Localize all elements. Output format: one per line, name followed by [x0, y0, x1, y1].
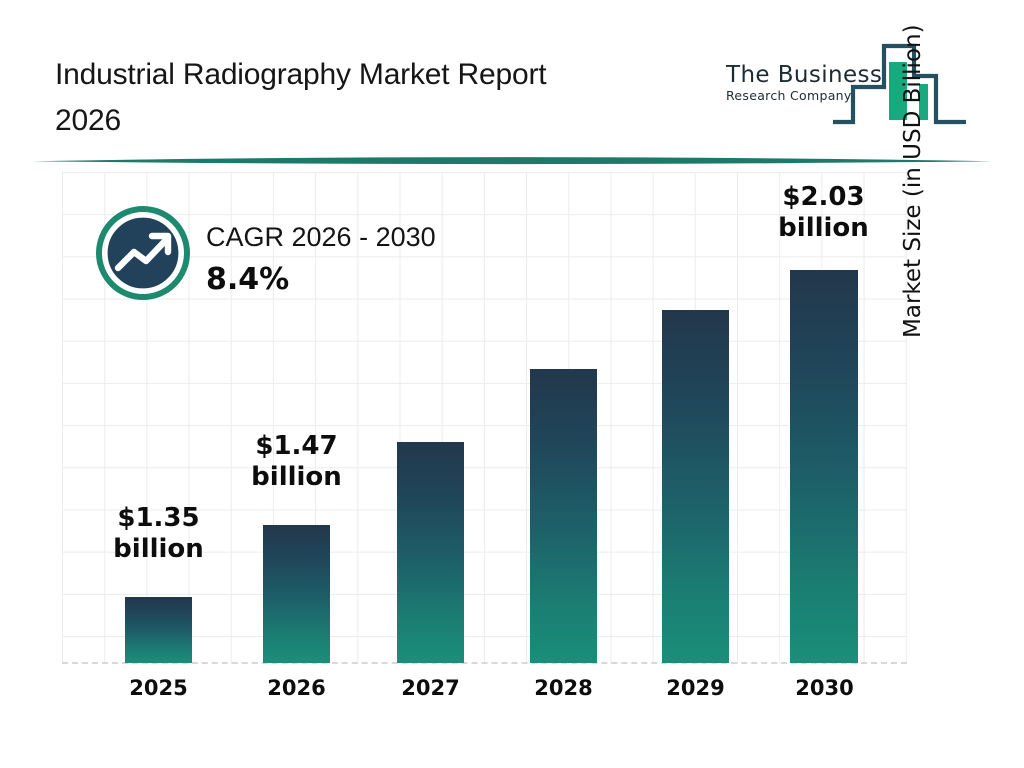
cagr-value: 8.4% [206, 262, 289, 297]
bar-value-label-2030: $2.03 billion [761, 182, 886, 244]
bar-value-label-2026: $1.47 billion [234, 431, 359, 493]
x-axis-tick-2029: 2029 [633, 676, 758, 700]
x-axis-tick-2026: 2026 [234, 676, 359, 700]
x-axis-tick-2025: 2025 [96, 676, 221, 700]
bar-2029[interactable] [662, 310, 729, 663]
x-axis-tick-2028: 2028 [501, 676, 626, 700]
y-axis-title: Market Size (in USD Billion) [900, 0, 934, 338]
bar-value-label-2025: $1.35 billion [96, 503, 221, 565]
bar-2028[interactable] [530, 369, 597, 663]
bar-2030[interactable] [790, 270, 858, 663]
bar-value-unit-2030: billion [778, 213, 869, 243]
cagr-badge: CAGR 2026 - 2030 8.4% [96, 206, 516, 306]
x-axis-tick-2030: 2030 [762, 676, 887, 700]
bar-2026[interactable] [263, 525, 330, 663]
x-axis-tick-2027: 2027 [368, 676, 493, 700]
cagr-period-label: CAGR 2026 - 2030 [206, 222, 436, 253]
bar-value-amount-2025: $1.35 [117, 503, 199, 533]
bar-value-amount-2026: $1.47 [255, 431, 337, 461]
bar-series: $1.35 billion $1.47 billion $2.03 billio… [0, 0, 1024, 768]
trending-up-arrow-icon [96, 206, 190, 300]
bar-value-amount-2030: $2.03 [782, 182, 864, 212]
bar-value-unit-2025: billion [113, 534, 204, 564]
bar-value-unit-2026: billion [251, 462, 342, 492]
bar-2025[interactable] [125, 597, 192, 663]
bar-2027[interactable] [397, 442, 464, 663]
